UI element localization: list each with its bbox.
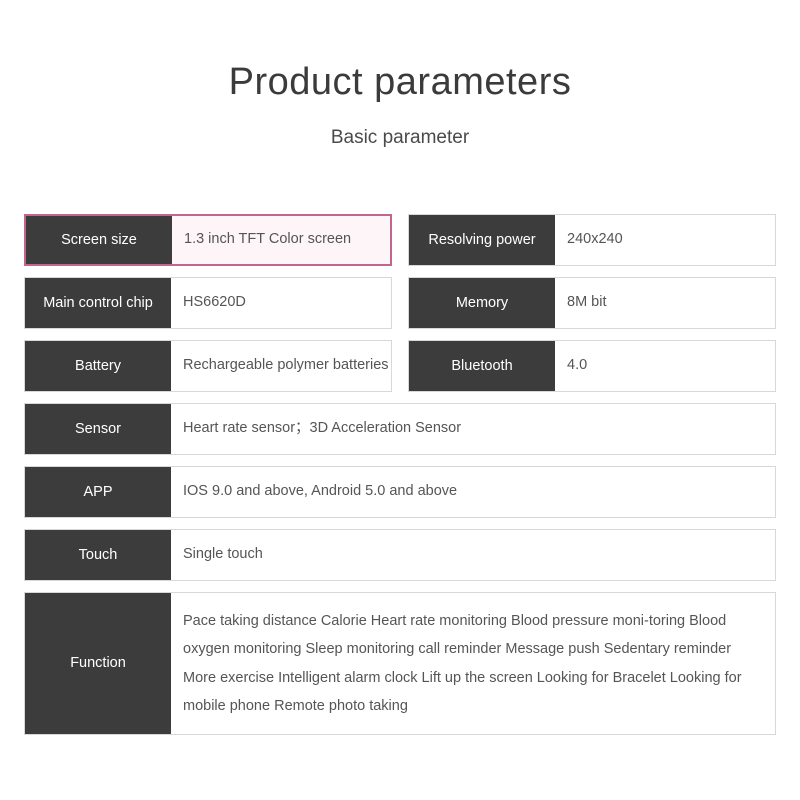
page-subtitle: Basic parameter — [0, 104, 800, 149]
spec-value-memory: 8M bit — [555, 278, 775, 328]
page-title: Product parameters — [0, 0, 800, 104]
spec-row-main-control-chip: Main control chip HS6620D — [24, 277, 392, 329]
spec-row-touch: Touch Single touch — [24, 529, 776, 581]
spec-row-memory: Memory 8M bit — [408, 277, 776, 329]
spec-row-app: APP IOS 9.0 and above, Android 5.0 and a… — [24, 466, 776, 518]
spec-label-app: APP — [25, 467, 171, 517]
spec-row-bluetooth: Bluetooth 4.0 — [408, 340, 776, 392]
spec-label-screen-size: Screen size — [26, 216, 172, 264]
spec-value-battery: Rechargeable polymer batteries — [171, 341, 391, 391]
spec-label-battery: Battery — [25, 341, 171, 391]
spec-row-wrapper: Touch Single touch — [24, 529, 776, 581]
spec-label-main-control-chip: Main control chip — [25, 278, 171, 328]
spec-row-screen-size: Screen size 1.3 inch TFT Color screen — [24, 214, 392, 266]
spec-value-sensor: Heart rate sensor；3D Acceleration Sensor — [171, 404, 775, 454]
spec-row-pair: Screen size 1.3 inch TFT Color screen Re… — [24, 214, 776, 266]
spec-row-function: Function Pace taking distance Calorie He… — [24, 592, 776, 735]
spec-value-resolving-power: 240x240 — [555, 215, 775, 265]
spec-value-main-control-chip: HS6620D — [171, 278, 391, 328]
spec-label-sensor: Sensor — [25, 404, 171, 454]
spec-row-pair: Main control chip HS6620D Memory 8M bit — [24, 277, 776, 329]
spec-row-sensor: Sensor Heart rate sensor；3D Acceleration… — [24, 403, 776, 455]
spec-value-function: Pace taking distance Calorie Heart rate … — [171, 593, 775, 734]
spec-value-bluetooth: 4.0 — [555, 341, 775, 391]
spec-row-wrapper: Sensor Heart rate sensor；3D Acceleration… — [24, 403, 776, 455]
product-parameters-page: Product parameters Basic parameter Scree… — [0, 0, 800, 800]
spec-row-pair: Battery Rechargeable polymer batteries B… — [24, 340, 776, 392]
spec-label-memory: Memory — [409, 278, 555, 328]
spec-row-resolving-power: Resolving power 240x240 — [408, 214, 776, 266]
spec-row-battery: Battery Rechargeable polymer batteries — [24, 340, 392, 392]
spec-label-bluetooth: Bluetooth — [409, 341, 555, 391]
spec-label-touch: Touch — [25, 530, 171, 580]
spec-row-wrapper: APP IOS 9.0 and above, Android 5.0 and a… — [24, 466, 776, 518]
spec-label-function: Function — [25, 593, 171, 734]
spec-value-touch: Single touch — [171, 530, 775, 580]
spec-value-app: IOS 9.0 and above, Android 5.0 and above — [171, 467, 775, 517]
spec-table: Screen size 1.3 inch TFT Color screen Re… — [24, 214, 776, 746]
function-text: Pace taking distance Calorie Heart rate … — [183, 607, 765, 720]
spec-label-resolving-power: Resolving power — [409, 215, 555, 265]
spec-row-wrapper: Function Pace taking distance Calorie He… — [24, 592, 776, 735]
spec-value-screen-size: 1.3 inch TFT Color screen — [172, 216, 390, 264]
